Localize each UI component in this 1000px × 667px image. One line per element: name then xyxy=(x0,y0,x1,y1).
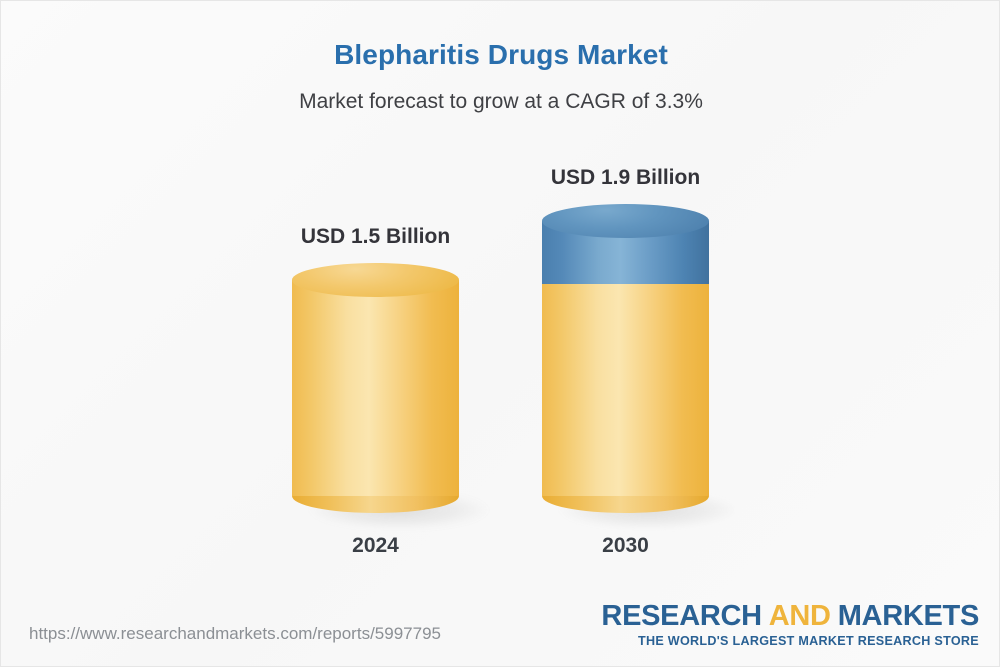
bar-group-2024: USD 1.5 Billion 2024 xyxy=(292,1,459,601)
logo-word-research: RESEARCH xyxy=(601,600,761,632)
research-and-markets-logo[interactable]: RESEARCHANDMARKETS THE WORLD'S LARGEST M… xyxy=(601,602,979,648)
cylinder-top-cap xyxy=(542,204,709,238)
chart-canvas: Blepharitis Drugs Market Market forecast… xyxy=(0,0,1000,667)
bar-value-label-2030: USD 1.9 Billion xyxy=(542,166,709,190)
cylinder-2024[interactable] xyxy=(292,263,459,513)
cylinder-segment-base xyxy=(542,284,709,496)
cylinder-segment-base xyxy=(292,280,459,496)
cylinder-top-cap xyxy=(292,263,459,297)
category-label-2030: 2030 xyxy=(542,534,709,558)
report-url[interactable]: https://www.researchandmarkets.com/repor… xyxy=(29,624,441,644)
logo-wordmark: RESEARCHANDMARKETS xyxy=(601,602,979,632)
cylinder-2030[interactable] xyxy=(542,204,709,513)
plot-area: USD 1.5 Billion 2024 USD 1.9 Billion xyxy=(1,1,1000,601)
category-label-2024: 2024 xyxy=(292,534,459,558)
logo-tagline: THE WORLD'S LARGEST MARKET RESEARCH STOR… xyxy=(601,634,979,648)
bar-value-label-2024: USD 1.5 Billion xyxy=(292,225,459,249)
logo-word-and: AND xyxy=(769,600,831,632)
logo-word-markets: MARKETS xyxy=(838,600,979,632)
bar-group-2030: USD 1.9 Billion 2030 xyxy=(542,1,709,601)
